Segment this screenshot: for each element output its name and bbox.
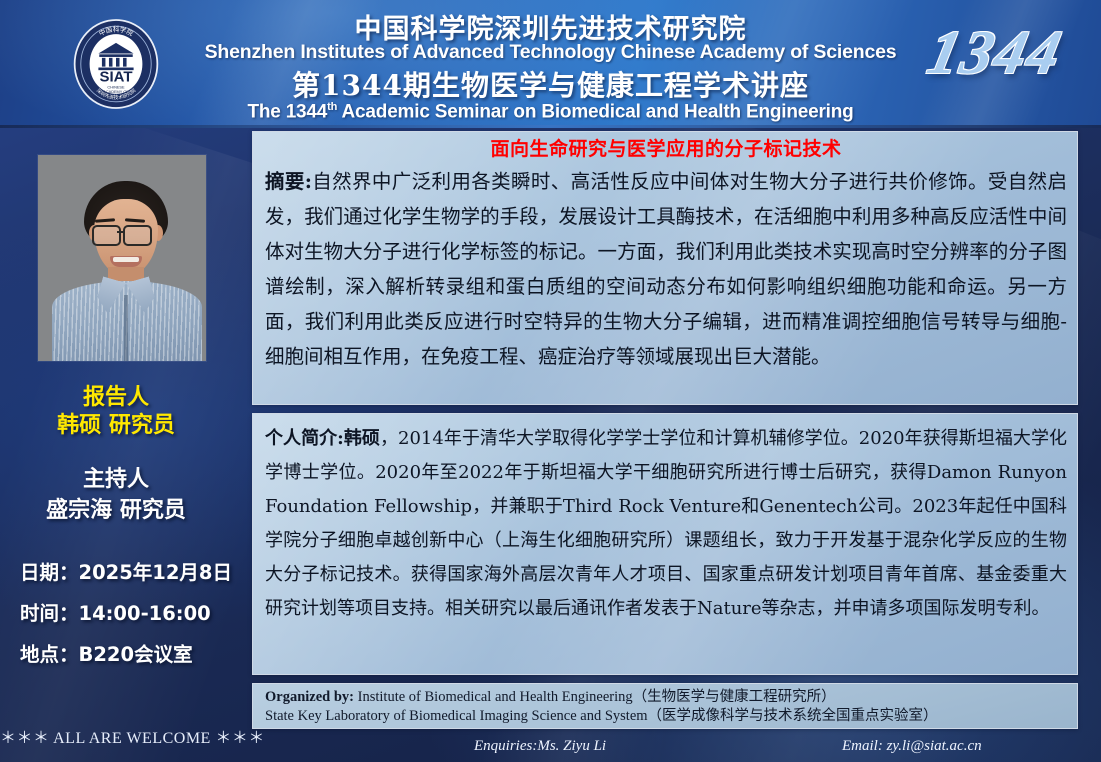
biography-panel: 个人简介:韩硕，2014年于清华大学取得化学学士学位和计算机辅修学位。2020年…: [252, 413, 1078, 675]
organizer-institute-en: Institute of Biomedical and Health Engin…: [354, 689, 633, 705]
organizer-lab-cn: （医学成像科学与技术系统全国重点实验室）: [648, 708, 938, 724]
series-en-ordinal: th: [327, 101, 337, 113]
footer-email: Email: zy.li@siat.ac.cn: [842, 738, 982, 755]
organizers-panel: Organized by: Institute of Biomedical an…: [252, 683, 1078, 729]
event-date: 日期：2025年12月8日: [20, 556, 232, 585]
abstract-content: 自然界中广泛利用各类瞬时、高活性反应中间体对生物大分子进行共价修饰。受自然启发，…: [265, 170, 1067, 368]
organizer-line-2: State Key Laboratory of Biomedical Imagi…: [265, 707, 1067, 726]
photo-teeth: [113, 257, 139, 262]
abstract-body: 摘要:自然界中广泛利用各类瞬时、高活性反应中间体对生物大分子进行共价修饰。受自然…: [265, 164, 1067, 374]
abstract-panel: 面向生命研究与医学应用的分子标记技术 摘要:自然界中广泛利用各类瞬时、高活性反应…: [252, 131, 1078, 405]
poster-header: SIAT CHINESE ACADEMY OF SCIENCES 中国科学院 深…: [0, 0, 1101, 128]
organizer-lab-en: State Key Laboratory of Biomedical Imagi…: [265, 708, 648, 724]
organizer-line-1: Organized by: Institute of Biomedical an…: [265, 688, 1067, 707]
header-series-english: The 1344th Academic Seminar on Biomedica…: [0, 101, 1101, 123]
host-role-label: 主持人: [0, 461, 232, 493]
seminar-title: 面向生命研究与医学应用的分子标记技术: [265, 136, 1067, 162]
photo-glasses-right: [123, 225, 152, 246]
seminar-poster: SIAT CHINESE ACADEMY OF SCIENCES 中国科学院 深…: [0, 0, 1101, 762]
biography-lead: 个人简介:: [265, 428, 344, 449]
event-time: 时间：14:00-16:00: [20, 597, 211, 626]
photo-glasses-bridge: [117, 231, 123, 233]
series-en-suffix: Academic Seminar on Biomedical and Healt…: [337, 101, 853, 122]
photo-shirt-placket: [124, 295, 128, 361]
organizer-lead: Organized by:: [265, 689, 354, 705]
speaker-name-label: 韩硕 研究员: [0, 407, 232, 439]
footer-enquiries: Enquiries:Ms. Ziyu Li: [474, 738, 606, 755]
photo-mouth: [110, 256, 142, 267]
series-en-prefix: The 1344: [247, 101, 327, 122]
biography-body: 个人简介:韩硕，2014年于清华大学取得化学学士学位和计算机辅修学位。2020年…: [265, 422, 1067, 626]
biography-speaker-name: 韩硕: [344, 428, 380, 449]
host-name-label: 盛宗海 研究员: [0, 492, 232, 524]
photo-glasses-left: [92, 225, 121, 246]
issue-number-watermark: 1344: [921, 18, 1068, 89]
biography-content: ，2014年于清华大学取得化学学士学位和计算机辅修学位。2020年获得斯坦福大学…: [265, 428, 1067, 619]
event-location: 地点：B220会议室: [20, 638, 193, 667]
abstract-lead: 摘要:: [265, 170, 312, 193]
speaker-photo: [38, 155, 206, 361]
organizer-institute-cn: （生物医学与健康工程研究所）: [633, 689, 836, 705]
